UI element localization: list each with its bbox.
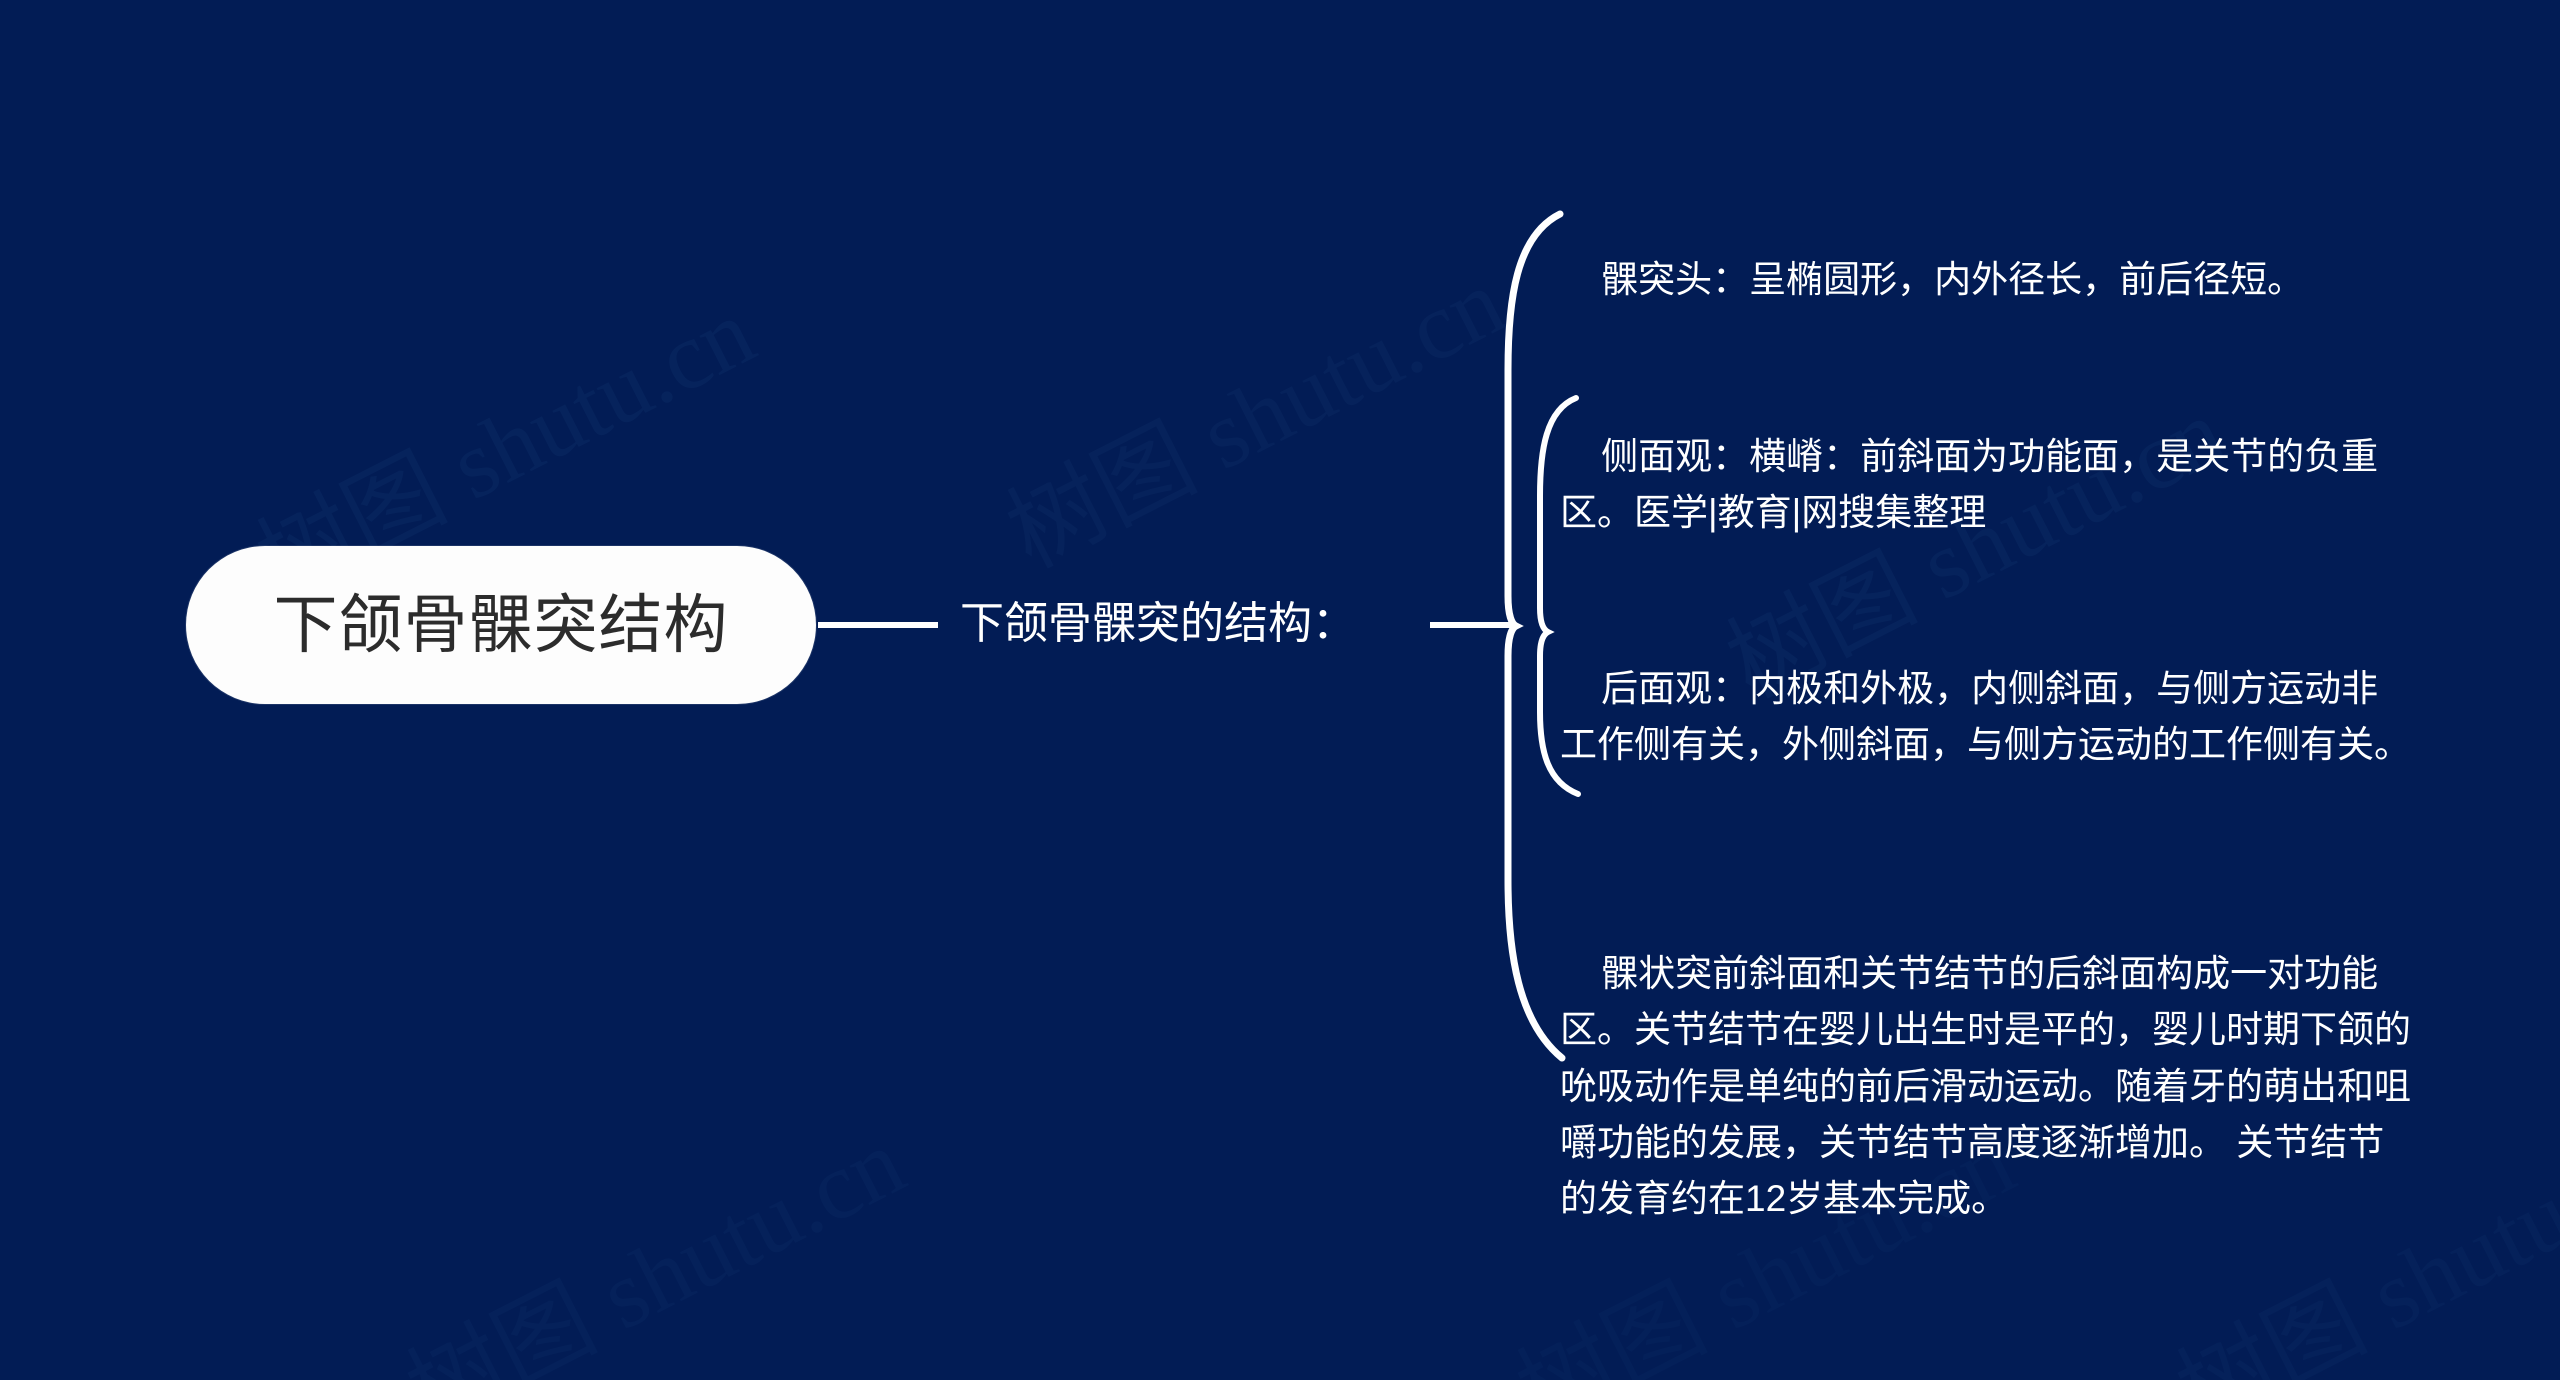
leaf-node-4-text: 髁状突前斜面和关节结节的后斜面构成一对功能区。关节结节在婴儿出生时是平的，婴儿时… xyxy=(1560,953,2411,1219)
branch-node-label: 下颌骨髁突的结构： xyxy=(960,599,1356,648)
leaf-node-3-text: 后面观：内极和外极，内侧斜面，与侧方运动非工作侧有关，外侧斜面，与侧方运动的工作… xyxy=(1560,668,2411,765)
mindmap-canvas: 树图 shutu.cn树图 shutu.cn树图 shutu.cn树图 shut… xyxy=(0,0,2560,1380)
root-node[interactable]: 下颌骨髁突结构 xyxy=(186,546,816,704)
leaf-node-2[interactable]: 侧面观：横嵴：前斜面为功能面，是关节的负重区。医学|教育|网搜集整理 xyxy=(1560,373,2415,598)
branch-node[interactable]: 下颌骨髁突的结构： xyxy=(960,596,1356,651)
leaf-node-1-text: 髁突头：呈椭圆形，内外径长，前后径短。 xyxy=(1601,259,2304,300)
leaf-node-4[interactable]: 髁状突前斜面和关节结节的后斜面构成一对功能区。关节结节在婴儿出生时是平的，婴儿时… xyxy=(1560,890,2415,1284)
root-node-label: 下颌骨髁突结构 xyxy=(274,593,729,657)
leaf-node-2-text: 侧面观：横嵴：前斜面为功能面，是关节的负重区。医学|教育|网搜集整理 xyxy=(1560,436,2378,533)
leaf-node-3[interactable]: 后面观：内极和外极，内侧斜面，与侧方运动非工作侧有关，外侧斜面，与侧方运动的工作… xyxy=(1560,605,2415,830)
watermark-text: 树图 shutu.cn xyxy=(980,225,1523,593)
outer-brace xyxy=(1508,214,1562,1058)
watermark-text: 树图 shutu.cn xyxy=(380,1085,923,1380)
leaf-node-1[interactable]: 髁突头：呈椭圆形，内外径长，前后径短。 xyxy=(1560,196,2415,365)
